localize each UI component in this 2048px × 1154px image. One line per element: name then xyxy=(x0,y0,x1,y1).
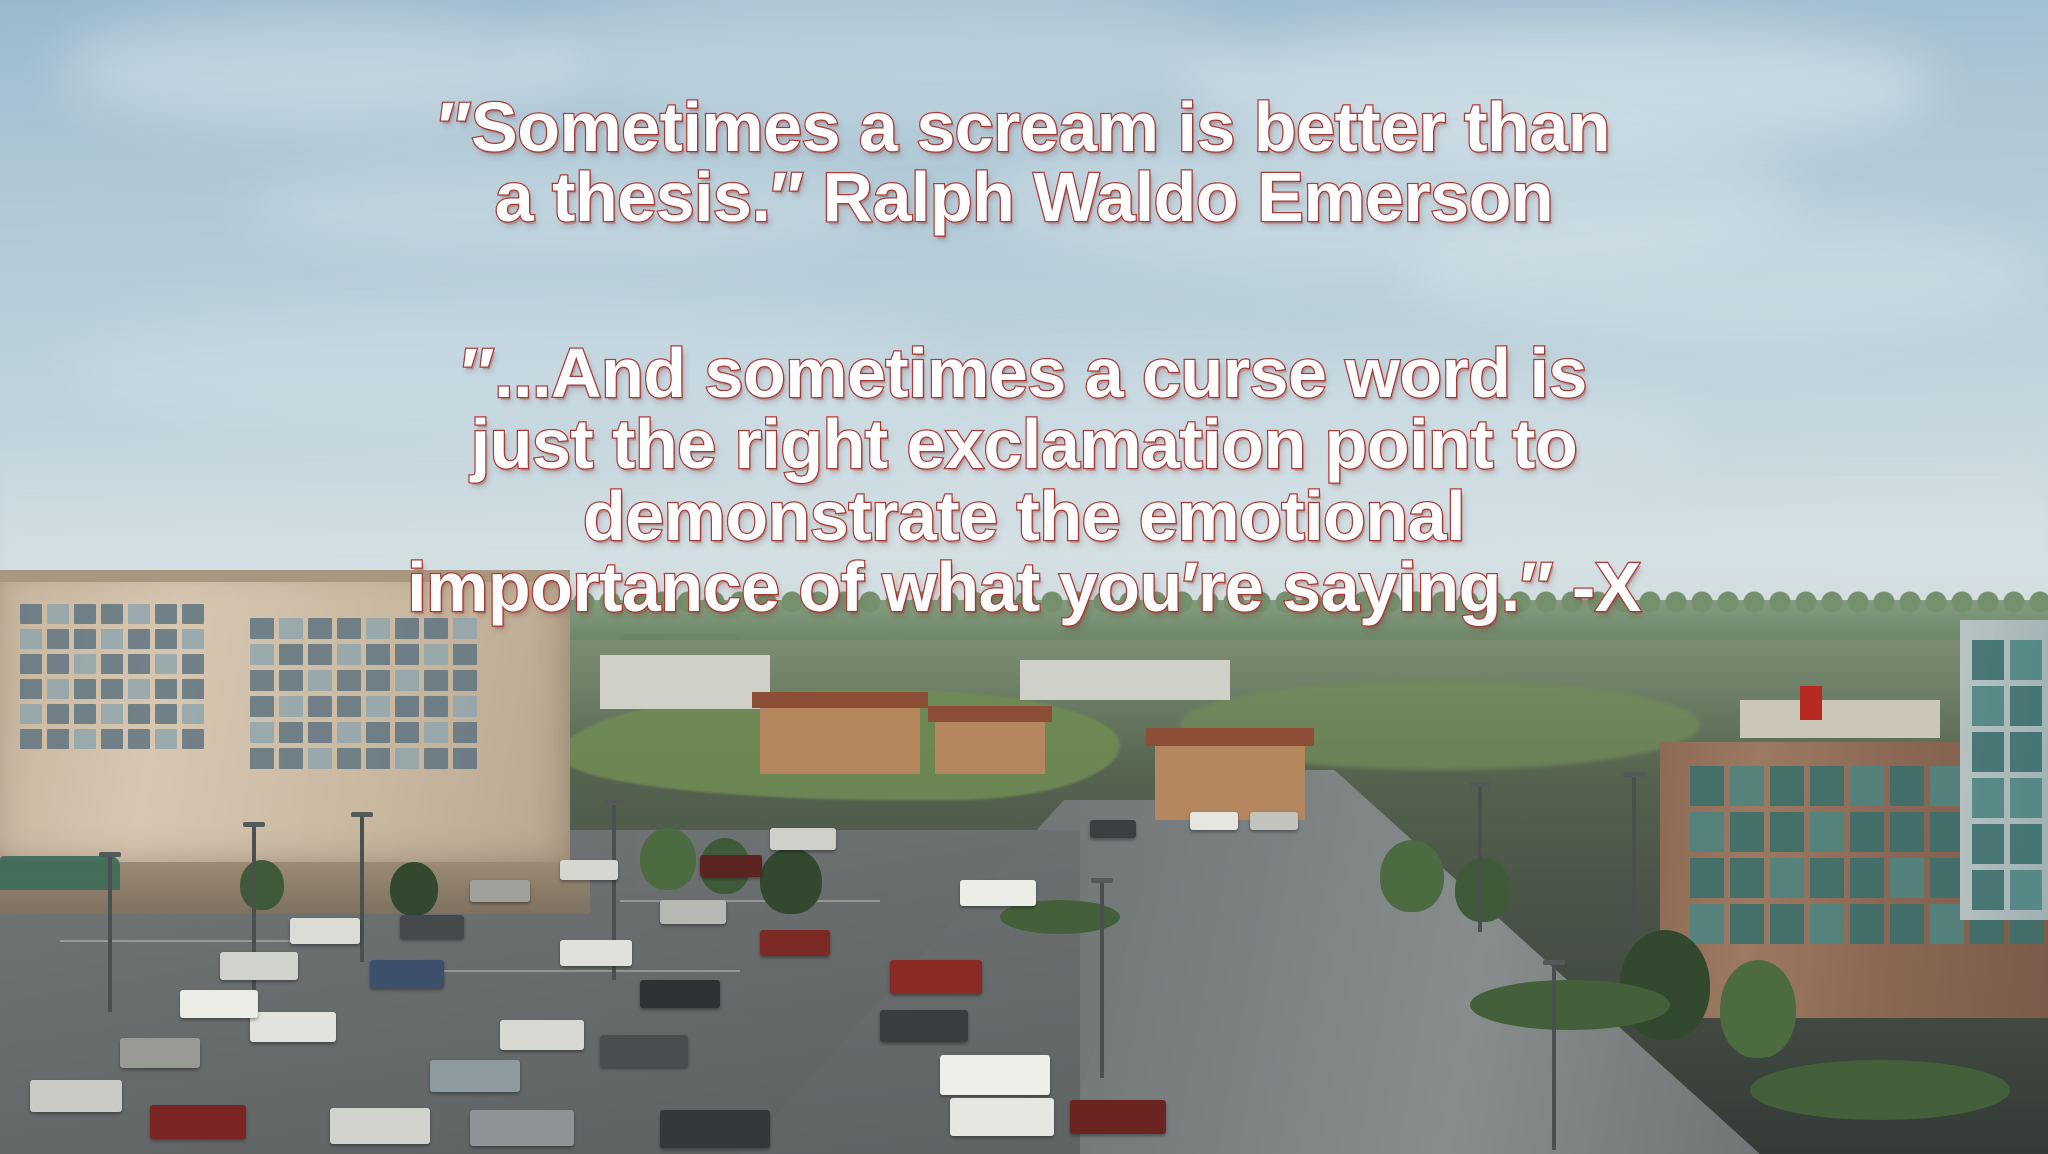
vehicle xyxy=(150,1105,246,1139)
midground-building xyxy=(1020,660,1230,700)
vehicle xyxy=(400,915,464,939)
light-pole xyxy=(1632,772,1636,932)
tree xyxy=(390,862,438,916)
vehicle xyxy=(370,960,444,988)
vehicle xyxy=(890,960,982,994)
vehicle xyxy=(660,1110,770,1148)
vehicle xyxy=(470,880,530,902)
tree xyxy=(1380,840,1444,912)
cloud xyxy=(980,120,1800,270)
shrub xyxy=(1470,980,1670,1030)
vehicle xyxy=(760,930,830,956)
midground-building xyxy=(600,655,770,709)
vehicle xyxy=(880,1010,968,1042)
vehicle xyxy=(560,940,632,966)
vehicle xyxy=(770,828,836,850)
tree xyxy=(1455,858,1511,922)
vehicle xyxy=(1090,820,1136,838)
vehicle xyxy=(120,1038,200,1068)
red-roof xyxy=(928,706,1052,722)
vehicle xyxy=(600,1035,688,1067)
vehicle xyxy=(640,980,720,1008)
office-parapet xyxy=(1740,700,1940,738)
hotel-awning xyxy=(0,856,120,890)
tree xyxy=(640,828,696,890)
tree xyxy=(760,848,822,914)
midground-building xyxy=(1155,740,1305,820)
cloud xyxy=(60,300,960,440)
vehicle xyxy=(1190,812,1238,830)
red-roof xyxy=(752,692,928,708)
light-pole xyxy=(1100,878,1104,1078)
vehicle xyxy=(180,990,258,1018)
light-pole xyxy=(1552,960,1556,1150)
tree xyxy=(240,860,284,910)
vehicle xyxy=(250,1012,336,1042)
midground-building xyxy=(760,700,920,774)
vehicle xyxy=(1250,812,1298,830)
vehicle xyxy=(1070,1100,1166,1134)
vehicle xyxy=(330,1108,430,1144)
vehicle xyxy=(470,1110,574,1146)
vehicle xyxy=(660,900,726,924)
light-pole xyxy=(108,852,112,1012)
midground-building xyxy=(935,718,1045,774)
vehicle xyxy=(290,918,360,944)
vehicle xyxy=(960,880,1036,906)
office-window-grid-far xyxy=(1972,640,2042,910)
red-sign xyxy=(1800,686,1822,720)
cloud xyxy=(520,0,1240,130)
cloud xyxy=(60,10,580,130)
cloud xyxy=(1400,210,2040,340)
cloud xyxy=(1180,20,1940,150)
hotel-window-grid xyxy=(20,604,204,749)
vehicle xyxy=(950,1098,1054,1136)
vehicle xyxy=(30,1080,122,1112)
vehicle xyxy=(700,855,762,877)
light-pole xyxy=(1478,782,1482,932)
vehicle xyxy=(220,952,298,980)
vehicle xyxy=(500,1020,584,1050)
red-roof xyxy=(1146,728,1314,746)
vehicle xyxy=(560,860,618,880)
vehicle xyxy=(940,1055,1050,1095)
cloud xyxy=(240,150,880,260)
vehicle xyxy=(430,1060,520,1092)
shrub xyxy=(1750,1060,2010,1120)
light-pole xyxy=(360,812,364,962)
hotel-window-grid-right xyxy=(250,618,477,769)
tree xyxy=(1720,960,1796,1058)
screenshot-canvas: ″Sometimes a scream is better than a the… xyxy=(0,0,2048,1154)
